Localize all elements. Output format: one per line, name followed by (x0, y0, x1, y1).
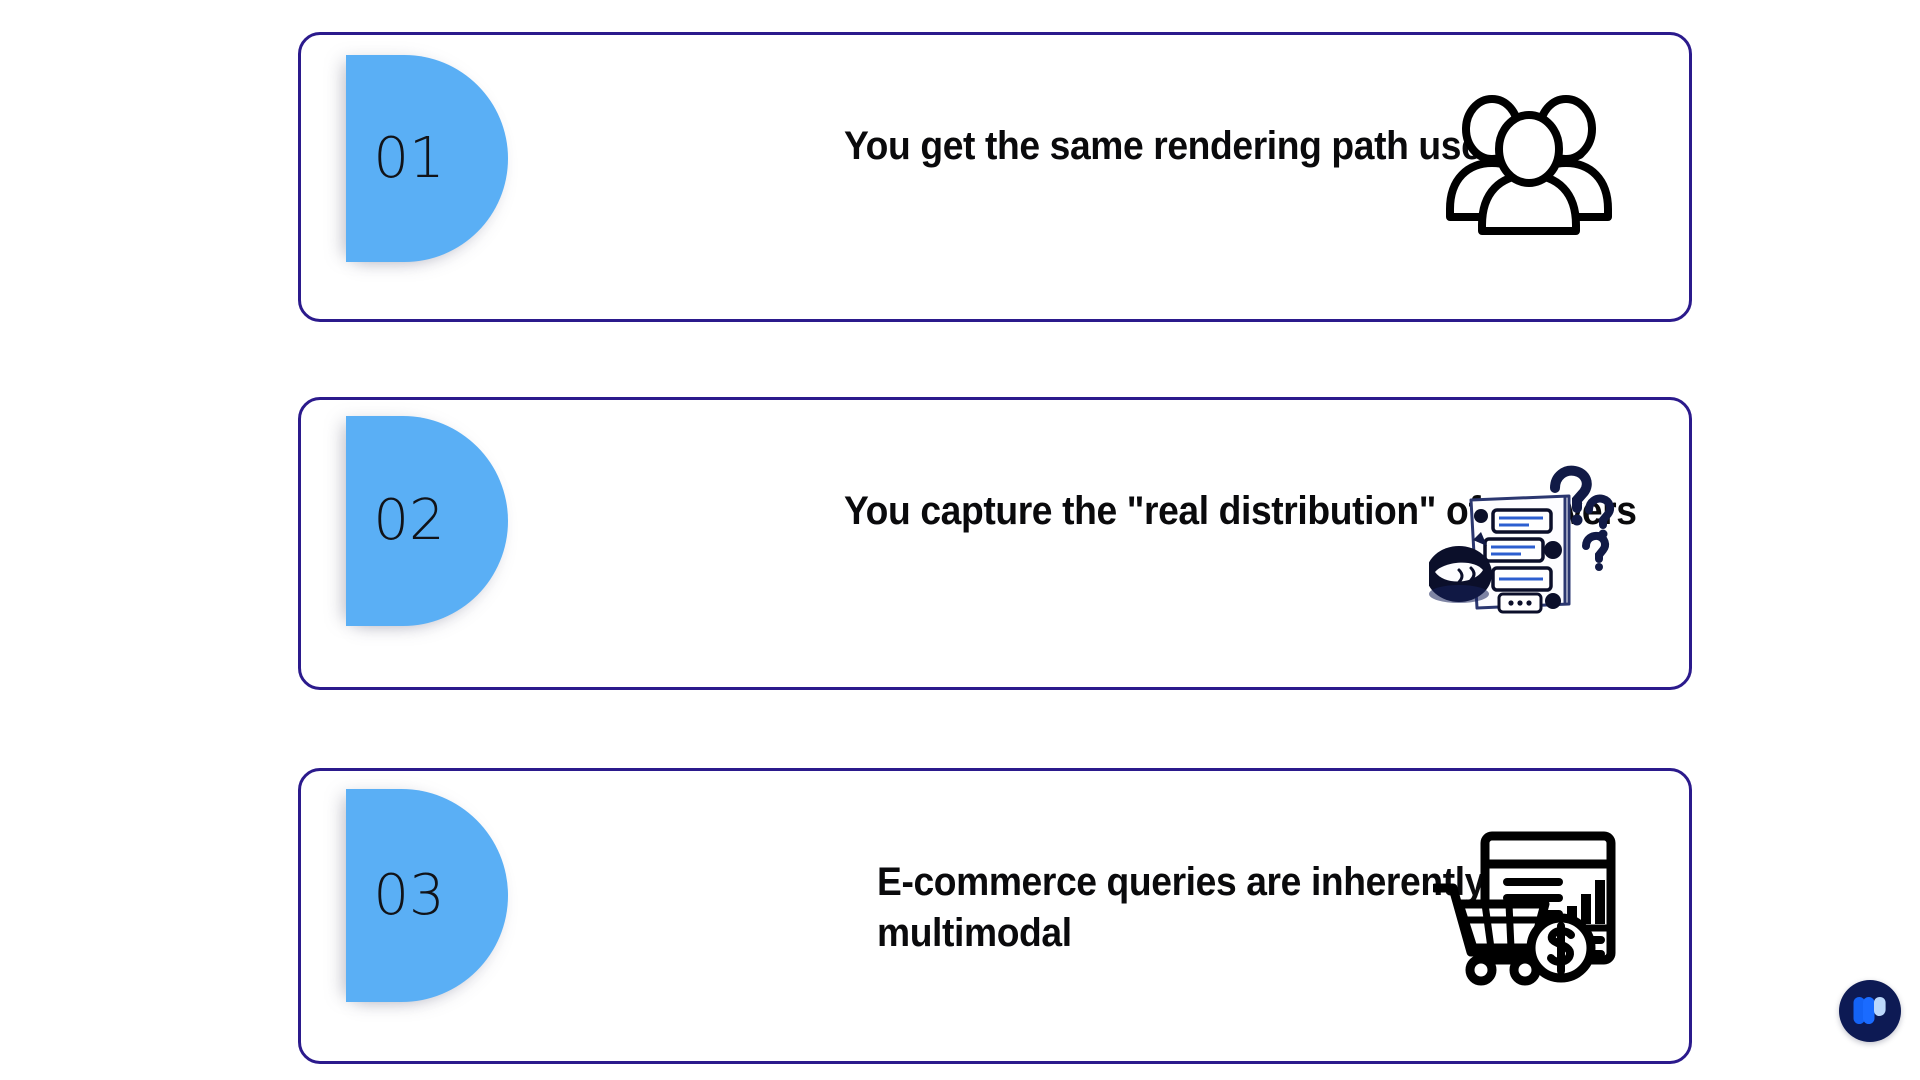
point-card[interactable]: 01 You get the same rendering path users… (298, 32, 1692, 322)
number-badge: 01 (346, 55, 508, 262)
number-badge-label: 01 (373, 131, 444, 187)
card-inner: 02 You capture the "real distribution" o… (301, 400, 1689, 687)
card-inner: 01 You get the same rendering path users… (301, 35, 1689, 319)
ecommerce-analytics-cart-icon (1431, 829, 1621, 989)
number-badge-label: 02 (373, 493, 444, 549)
number-badge-label: 03 (373, 868, 444, 924)
number-badge: 02 (346, 416, 508, 626)
number-badge: 03 (346, 789, 508, 1002)
point-card[interactable]: 03 E-commerce queries are inherently mul… (298, 768, 1692, 1064)
chatbot-faq-icon (1427, 458, 1627, 618)
users-group-icon (1439, 89, 1619, 239)
point-card[interactable]: 02 You capture the "real distribution" o… (298, 397, 1692, 690)
card-inner: 03 E-commerce queries are inherently mul… (301, 771, 1689, 1061)
slide-canvas: 01 You get the same rendering path users… (0, 0, 1920, 1080)
w-monogram-logo[interactable] (1839, 980, 1901, 1042)
